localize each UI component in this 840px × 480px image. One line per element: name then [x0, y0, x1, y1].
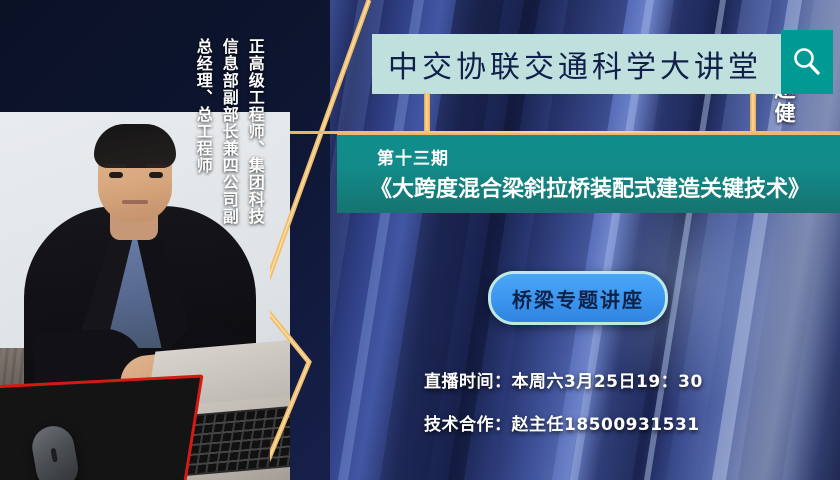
- search-button[interactable]: [781, 30, 833, 94]
- header-title-bar: 中交协联交通科学大讲堂: [372, 34, 804, 94]
- speaker-eyebrow-left: [106, 164, 126, 168]
- broadcast-time-text: 直播时间：本周六3月25日19：30: [424, 367, 703, 392]
- page-title: 中交协联交通科学大讲堂: [372, 42, 762, 86]
- speaker-credential-line-2: 信息部副部长兼四公司副: [220, 38, 237, 225]
- speaker-eyebrow-right: [146, 164, 166, 168]
- category-badge[interactable]: 桥梁专题讲座: [488, 271, 668, 325]
- webinar-poster: 总经理、总工程师 信息部副部长兼四公司副 正高级工程师、集团科技 赵健 中交协联…: [0, 0, 840, 480]
- speaker-credential-line-3: 总经理、总工程师: [194, 38, 211, 174]
- subtitle-panel: 第十三期 《大跨度混合梁斜拉桥装配式建造关键技术》: [337, 133, 840, 213]
- speaker-eye-left: [109, 172, 123, 178]
- speaker-mouth: [122, 200, 148, 204]
- gold-accent-bar-right: [750, 93, 756, 134]
- contact-text: 技术合作：赵主任18500931531: [424, 410, 700, 435]
- issue-number: 第十三期: [377, 144, 449, 169]
- mouse-pad: [0, 374, 204, 480]
- gold-accent-bar-left: [424, 93, 430, 134]
- speaker-credential-line-1: 正高级工程师、集团科技: [246, 38, 263, 225]
- lecture-topic: 《大跨度混合梁斜拉桥装配式建造关键技术》: [347, 171, 833, 203]
- speaker-eye-right: [149, 172, 163, 178]
- search-icon: [790, 45, 824, 79]
- speaker-hair: [94, 124, 176, 168]
- category-badge-label: 桥梁专题讲座: [512, 284, 644, 313]
